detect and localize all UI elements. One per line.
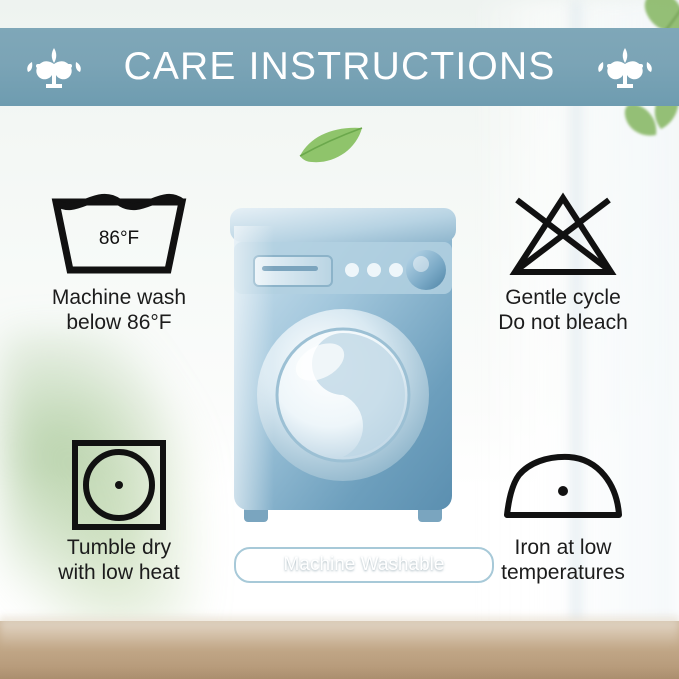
- crossed-triangle-icon-wrap: [452, 190, 674, 280]
- iron-icon: [499, 445, 627, 525]
- table-shine: [0, 619, 679, 649]
- care-symbol-caption: Machine wash below 86°F: [10, 285, 228, 335]
- care-symbol-do-not-bleach: Gentle cycle Do not bleach: [452, 190, 674, 335]
- tumble-dry-icon: [69, 437, 169, 533]
- fleur-de-lis-icon: [26, 44, 82, 90]
- care-symbol-caption: Gentle cycle Do not bleach: [452, 285, 674, 335]
- page-title: CARE INSTRUCTIONS: [123, 45, 555, 89]
- machine-washable-badge: Machine Washable: [234, 547, 494, 583]
- washing-machine-illustration: [228, 200, 458, 540]
- machine-washable-label: Machine Washable: [284, 554, 445, 576]
- crossed-triangle-icon: [508, 192, 618, 278]
- iron-icon-wrap: [452, 440, 674, 530]
- care-symbol-machine-wash: 86°F Machine wash below 86°F: [10, 190, 228, 335]
- fleur-de-lis-icon: [597, 44, 653, 90]
- indicator-light: [345, 263, 359, 277]
- indicator-light: [367, 263, 381, 277]
- tumble-dry-icon-wrap: [10, 440, 228, 530]
- falling-leaf-icon: [296, 126, 366, 168]
- wash-temperature-label: 86°F: [50, 228, 188, 250]
- care-symbol-tumble-dry: Tumble dry with low heat: [10, 440, 228, 585]
- knob-highlight: [413, 256, 429, 272]
- care-instructions-graphic: CARE INSTRUCTIONS: [0, 0, 679, 679]
- header-banner: CARE INSTRUCTIONS: [0, 28, 679, 106]
- care-symbol-caption: Tumble dry with low heat: [10, 535, 228, 585]
- indicator-light: [389, 263, 403, 277]
- wash-tub-icon-wrap: 86°F: [10, 190, 228, 280]
- machine-body-highlight: [234, 226, 274, 510]
